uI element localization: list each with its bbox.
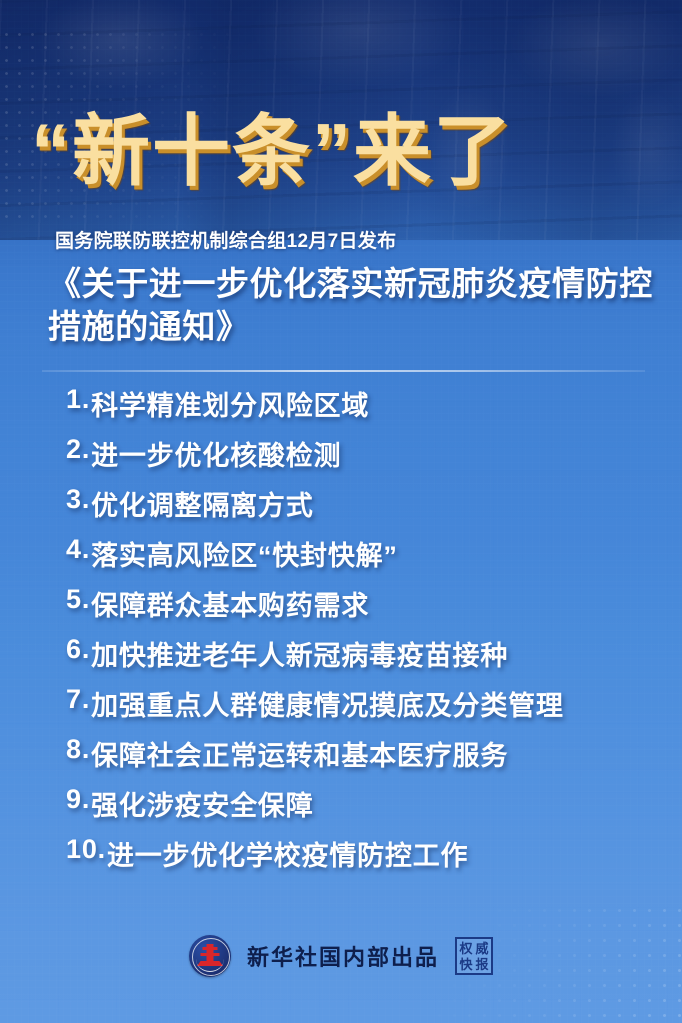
list-item-number: 5. — [66, 584, 90, 615]
list-item-label: 保障社会正常运转和基本医疗服务 — [91, 734, 508, 773]
poster-content: “新十条”来了 国务院联防联控机制综合组12月7日发布 《关于进一步优化落实新冠… — [0, 0, 682, 1023]
measures-list: 1. 科学精准划分风险区域 2. 进一步优化核酸检测 3. 优化调整隔离方式 4… — [66, 384, 666, 884]
list-item-label: 强化涉疫安全保障 — [91, 784, 313, 823]
list-item-number: 1. — [66, 384, 90, 415]
list-item: 4. 落实高风险区“快封快解” — [66, 534, 666, 584]
stamp-char-2: 威 — [474, 940, 490, 956]
list-item: 7. 加强重点人群健康情况摸底及分类管理 — [66, 684, 666, 734]
list-item-number: 8. — [66, 734, 90, 765]
list-item-number: 2. — [66, 434, 90, 465]
list-item-number: 3. — [66, 484, 90, 515]
list-item-number: 7. — [66, 684, 90, 715]
list-item-label: 科学精准划分风险区域 — [91, 384, 369, 423]
list-item-label: 进一步优化核酸检测 — [91, 434, 341, 473]
list-item-label: 保障群众基本购药需求 — [91, 584, 369, 623]
section-divider — [42, 370, 645, 372]
list-item: 1. 科学精准划分风险区域 — [66, 384, 666, 434]
list-item-number: 6. — [66, 634, 90, 665]
list-item: 9. 强化涉疫安全保障 — [66, 784, 666, 834]
stamp-char-4: 报 — [474, 956, 490, 972]
list-item-number: 10. — [66, 834, 106, 865]
stamp-char-3: 快 — [458, 956, 474, 972]
footer-attribution: 新华社国内部出品 — [247, 940, 439, 972]
list-item-label: 优化调整隔离方式 — [91, 484, 313, 523]
list-item: 5. 保障群众基本购药需求 — [66, 584, 666, 634]
list-item: 6. 加快推进老年人新冠病毒疫苗接种 — [66, 634, 666, 684]
footer: 新华社国内部出品 权 威 快 报 — [0, 925, 682, 987]
list-item: 3. 优化调整隔离方式 — [66, 484, 666, 534]
list-item-number: 9. — [66, 784, 90, 815]
list-item: 8. 保障社会正常运转和基本医疗服务 — [66, 734, 666, 784]
list-item-label: 落实高风险区“快封快解” — [91, 534, 398, 573]
poster-headline: “新十条”来了 — [31, 112, 513, 190]
list-item-label: 进一步优化学校疫情防控工作 — [107, 834, 468, 873]
issuer-line: 国务院联防联控机制综合组12月7日发布 — [55, 231, 396, 254]
list-item-number: 4. — [66, 534, 90, 565]
list-item: 10. 进一步优化学校疫情防控工作 — [66, 834, 666, 884]
list-item-label: 加强重点人群健康情况摸底及分类管理 — [91, 684, 564, 723]
stamp-char-1: 权 — [458, 940, 474, 956]
list-item: 2. 进一步优化核酸检测 — [66, 434, 666, 484]
poster-canvas: “新十条”来了 国务院联防联控机制综合组12月7日发布 《关于进一步优化落实新冠… — [0, 0, 682, 1023]
document-title: 《关于进一步优化落实新冠肺炎疫情防控措施的通知》 — [48, 263, 658, 349]
authority-stamp-icon: 权 威 快 报 — [455, 937, 493, 975]
xinhua-logo-icon — [189, 935, 231, 977]
list-item-label: 加快推进老年人新冠病毒疫苗接种 — [91, 634, 508, 673]
